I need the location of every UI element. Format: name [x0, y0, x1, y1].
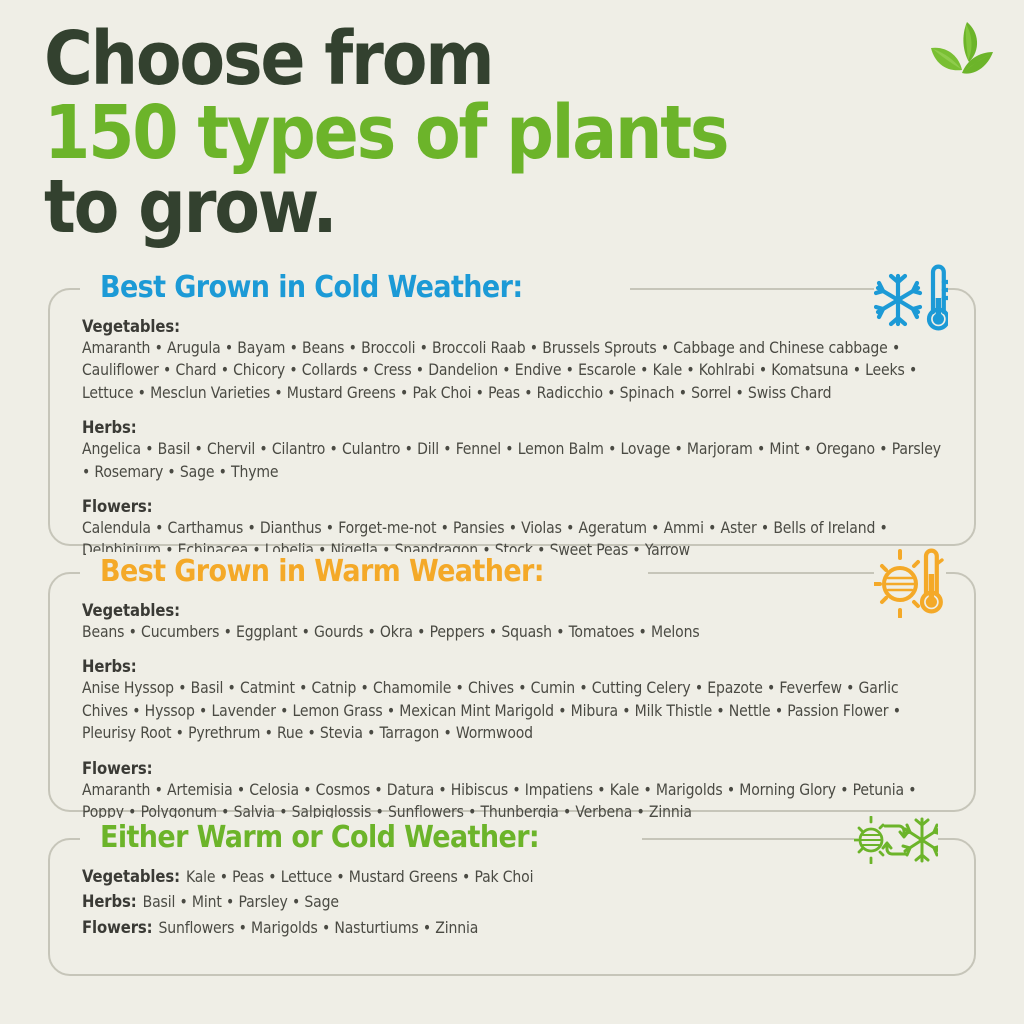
group-flowers: Flowers: Amaranth • Artemisia • Celosia …	[82, 758, 946, 824]
headline-line-1: Choose from	[44, 22, 804, 96]
group-herbs: Herbs: Angelica • Basil • Chervil • Cila…	[82, 417, 946, 483]
headline-line-3: to grow.	[44, 170, 804, 244]
group-items: Beans • Cucumbers • Eggplant • Gourds • …	[82, 621, 946, 643]
title-rule	[648, 572, 862, 574]
group-items: Amaranth • Arugula • Bayam • Beans • Bro…	[82, 337, 946, 404]
group-label: Flowers:	[82, 917, 153, 938]
group-items: Kale • Peas • Lettuce • Mustard Greens •…	[186, 866, 533, 888]
section-body-cold: Vegetables: Amaranth • Arugula • Bayam •…	[50, 290, 974, 562]
group-items: Sunflowers • Marigolds • Nasturtiums • Z…	[159, 917, 479, 939]
group-label: Flowers:	[82, 496, 946, 517]
title-rule	[630, 288, 862, 290]
group-vegetables: Vegetables: Kale • Peas • Lettuce • Must…	[82, 866, 946, 888]
group-label: Vegetables:	[82, 866, 180, 887]
group-label: Herbs:	[82, 891, 137, 912]
section-title-either: Either Warm or Cold Weather:	[86, 818, 553, 858]
title-rule	[642, 838, 844, 840]
section-cold-weather: Best Grown in Cold Weather:	[48, 288, 976, 546]
group-items: Anise Hyssop • Basil • Catmint • Catnip …	[82, 677, 946, 744]
section-either-weather: Either Warm or Cold Weather:	[48, 838, 976, 976]
sun-snowflake-exchange-icon	[854, 816, 938, 864]
group-label: Vegetables:	[82, 600, 946, 621]
three-leaf-logo	[925, 18, 997, 90]
snowflake-thermometer-icon	[874, 262, 948, 334]
group-flowers: Flowers: Sunflowers • Marigolds • Nastur…	[82, 917, 946, 939]
section-title-warm: Best Grown in Warm Weather:	[86, 552, 558, 592]
group-items: Amaranth • Artemisia • Celosia • Cosmos …	[82, 779, 946, 824]
group-items: Angelica • Basil • Chervil • Cilantro • …	[82, 438, 946, 483]
section-title-cold: Best Grown in Cold Weather:	[86, 268, 537, 308]
group-herbs: Herbs: Basil • Mint • Parsley • Sage	[82, 891, 946, 913]
three-leaf-icon	[925, 18, 997, 90]
group-vegetables: Vegetables: Beans • Cucumbers • Eggplant…	[82, 600, 946, 643]
group-vegetables: Vegetables: Amaranth • Arugula • Bayam •…	[82, 316, 946, 404]
section-body-warm: Vegetables: Beans • Cucumbers • Eggplant…	[50, 574, 974, 823]
page-title: Choose from 150 types of plants to grow.	[44, 22, 804, 244]
sun-thermometer-icon	[874, 546, 946, 618]
group-label: Vegetables:	[82, 316, 946, 337]
group-items: Basil • Mint • Parsley • Sage	[143, 891, 339, 913]
headline-line-2: 150 types of plants	[44, 96, 804, 170]
group-label: Herbs:	[82, 417, 946, 438]
group-label: Herbs:	[82, 656, 946, 677]
section-warm-weather: Best Grown in Warm Weather:	[48, 572, 976, 812]
group-label: Flowers:	[82, 758, 946, 779]
group-herbs: Herbs: Anise Hyssop • Basil • Catmint • …	[82, 656, 946, 744]
